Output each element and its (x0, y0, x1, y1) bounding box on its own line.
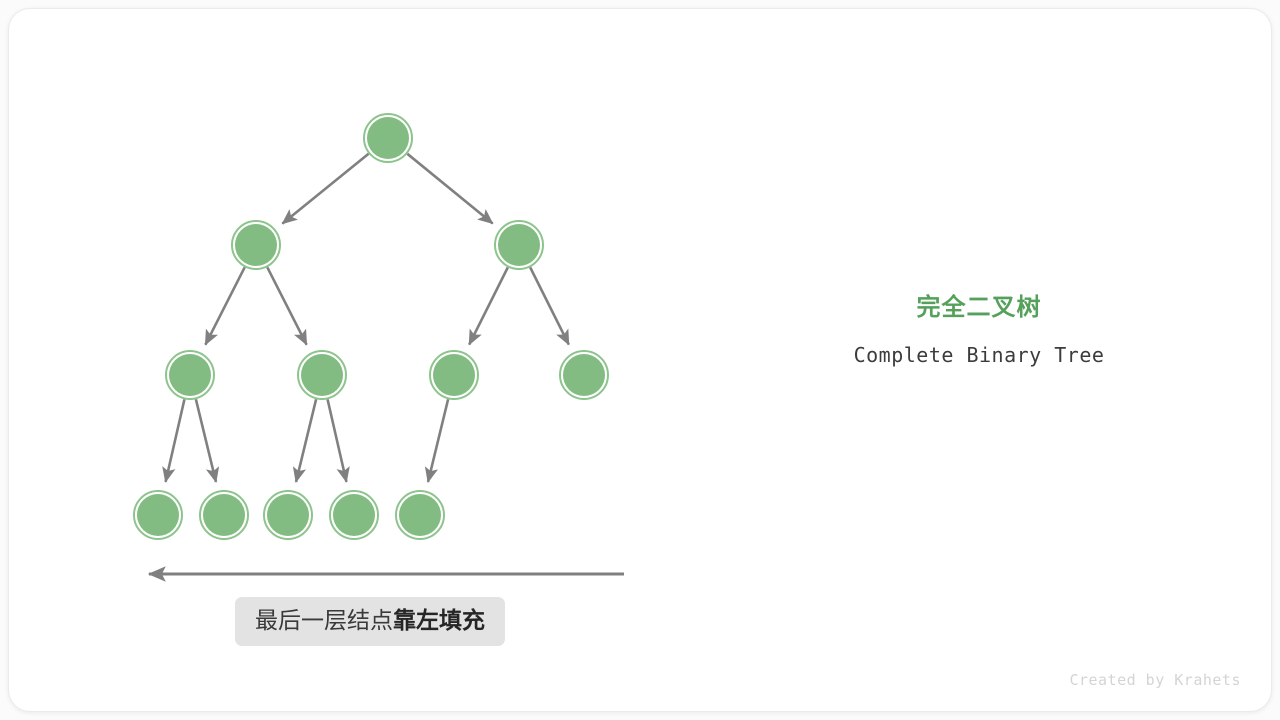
tree-node (495, 221, 543, 269)
tree-node-circle (563, 354, 605, 396)
caption-block: 完全二叉树 Complete Binary Tree (769, 294, 1189, 367)
tree-node-circle (301, 354, 343, 396)
tree-node-circle (333, 494, 375, 536)
tree-edge (530, 267, 569, 344)
tree-node-circle (367, 117, 409, 159)
tree-node-circle (498, 224, 540, 266)
annotation-badge-strong: 靠左填充 (393, 607, 485, 633)
tree-node (330, 491, 378, 539)
diagram-card: 完全二叉树 Complete Binary Tree 最后一层结点靠左填充 Cr… (8, 8, 1272, 712)
tree-edge (469, 267, 508, 344)
tree-node (396, 491, 444, 539)
annotation-badge: 最后一层结点靠左填充 (235, 597, 505, 646)
tree-edge (282, 154, 368, 224)
annotation-badge-prefix: 最后一层结点 (255, 607, 393, 633)
tree-node-layer (134, 114, 608, 539)
tree-node (298, 351, 346, 399)
caption-subtitle: Complete Binary Tree (769, 343, 1189, 367)
tree-edge (328, 399, 347, 481)
tree-node (364, 114, 412, 162)
caption-title: 完全二叉树 (769, 294, 1189, 323)
tree-node-circle (235, 224, 277, 266)
tree-node (430, 351, 478, 399)
diagram-stage: 完全二叉树 Complete Binary Tree 最后一层结点靠左填充 Cr… (0, 0, 1280, 720)
tree-edge (196, 399, 216, 482)
tree-node (134, 491, 182, 539)
tree-edge (267, 267, 306, 344)
tree-node-circle (267, 494, 309, 536)
tree-edge (166, 399, 185, 481)
tree-edge (296, 399, 316, 482)
tree-node (232, 221, 280, 269)
tree-node-circle (399, 494, 441, 536)
tree-edge (205, 267, 244, 344)
tree-edge (428, 399, 448, 482)
tree-node (166, 351, 214, 399)
tree-node-circle (433, 354, 475, 396)
tree-edge-layer (166, 154, 569, 482)
tree-node-circle (169, 354, 211, 396)
tree-node (560, 351, 608, 399)
tree-node-circle (203, 494, 245, 536)
tree-node (200, 491, 248, 539)
tree-edge (407, 154, 492, 224)
watermark: Created by Krahets (1069, 671, 1241, 689)
tree-node (264, 491, 312, 539)
tree-node-circle (137, 494, 179, 536)
